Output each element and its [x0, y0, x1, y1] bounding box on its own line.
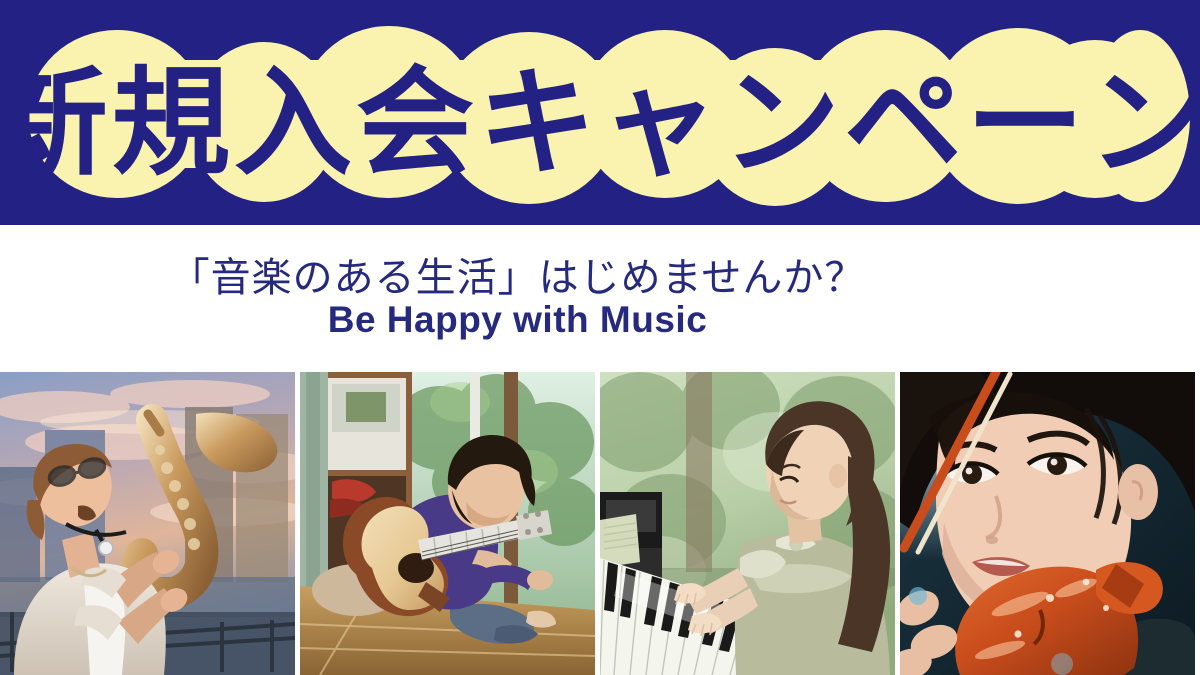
title-char: ー [966, 27, 1088, 198]
title-char: ャ [600, 27, 722, 198]
title-char: 会 [356, 27, 478, 198]
title-char: ン [722, 27, 844, 198]
photo-guitar-player [300, 372, 595, 675]
photo-piano-player [600, 372, 895, 675]
title-char: ン [1088, 27, 1200, 198]
photo-violin-player [900, 372, 1195, 675]
subtitle-english: Be Happy with Music [328, 301, 708, 340]
photo-strip [0, 372, 1200, 675]
title-char: 規 [112, 27, 234, 198]
subtitle-text-group: 「音楽のある生活」はじめませんか？ Be Happy with Music [0, 225, 1035, 372]
title-char: ペ [844, 27, 966, 198]
photo-saxophone-player [0, 372, 295, 675]
subtitle-band: 「音楽のある生活」はじめませんか？ Be Happy with Music [0, 225, 1200, 372]
title-band: 新規入会キャンペーン [0, 0, 1200, 225]
campaign-banner: 新規入会キャンペーン 「音楽のある生活」はじめませんか？ Be Happy wi… [0, 0, 1200, 675]
title-char: 新 [0, 27, 112, 198]
subtitle-japanese: 「音楽のある生活」はじめませんか？ [170, 257, 866, 299]
title-char: 入 [234, 27, 356, 198]
page-title: 新規入会キャンペーン [0, 0, 1200, 225]
title-char: キ [478, 27, 600, 198]
